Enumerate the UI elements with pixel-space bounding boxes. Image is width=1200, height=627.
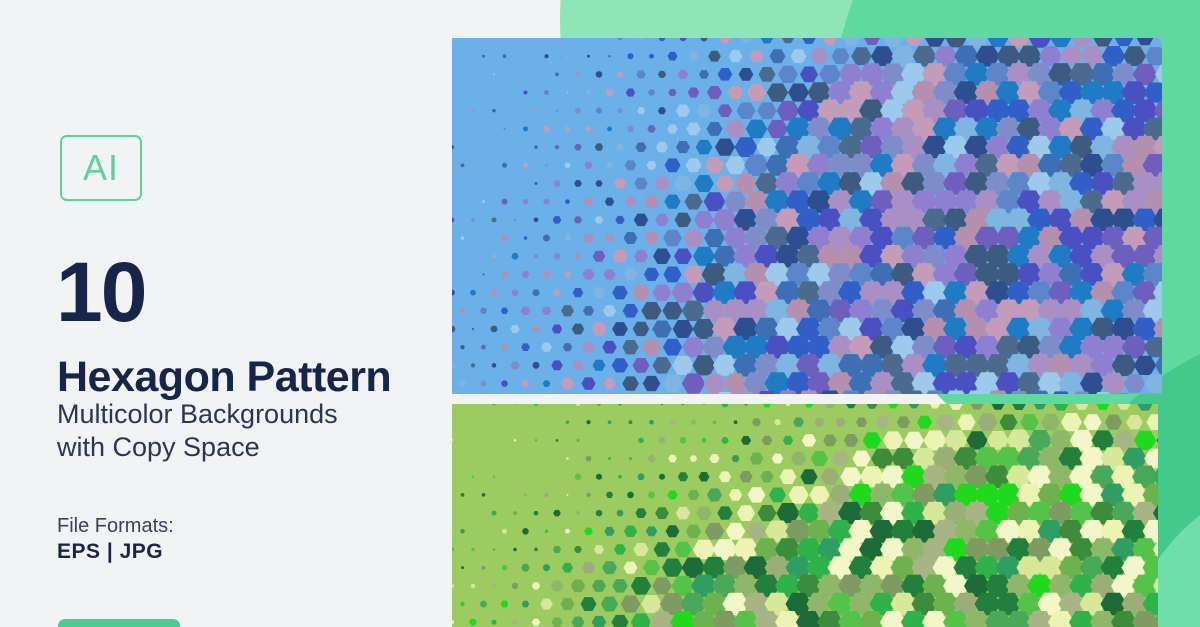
cta-button[interactable] bbox=[58, 619, 180, 627]
info-column: AI 10 Hexagon Pattern Multicolor Backgro… bbox=[0, 0, 452, 627]
page-title: Hexagon Pattern bbox=[57, 352, 391, 402]
file-formats-value: EPS | JPG bbox=[57, 540, 163, 564]
subtitle-line-1: Multicolor Backgrounds bbox=[57, 398, 447, 431]
green-hexagon-preview[interactable] bbox=[452, 404, 1158, 627]
promo-banner: AI 10 Hexagon Pattern Multicolor Backgro… bbox=[0, 0, 1200, 627]
ai-badge-label: AI bbox=[62, 137, 140, 199]
blue-hexagon-preview[interactable] bbox=[452, 38, 1162, 394]
subtitle-line-2: with Copy Space bbox=[57, 431, 447, 464]
page-subtitle: Multicolor Backgrounds with Copy Space bbox=[57, 398, 447, 464]
item-count: 10 bbox=[56, 250, 145, 334]
file-formats-label: File Formats: bbox=[57, 515, 174, 538]
ai-format-badge: AI bbox=[60, 135, 142, 201]
